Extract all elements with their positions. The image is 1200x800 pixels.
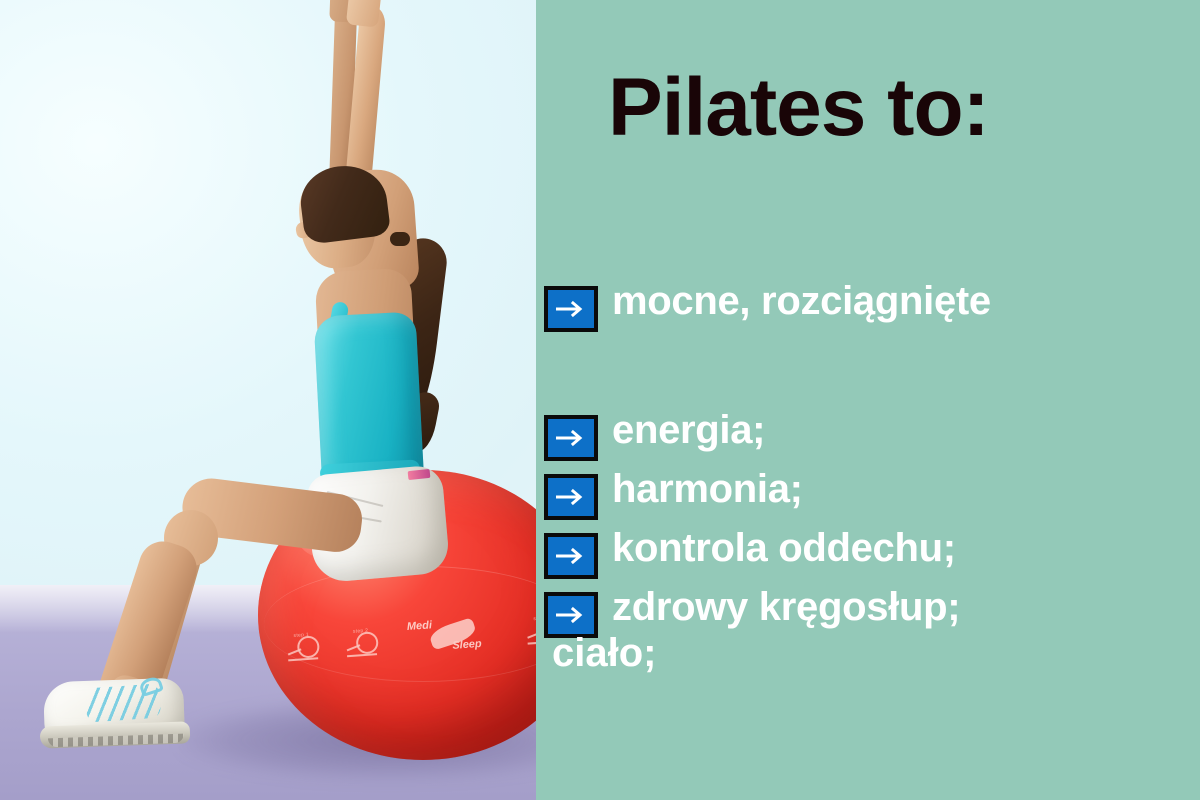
list-item-label: zdrowy kręgosłup; <box>612 583 960 632</box>
near-hand <box>346 0 382 28</box>
list-item: harmonia; <box>544 465 1200 520</box>
exercising-woman-figure <box>0 0 536 800</box>
list-item-label: harmonia; <box>612 465 803 514</box>
arrow-right-icon <box>544 286 598 332</box>
list-item: mocne, rozciągnięte <box>544 277 1200 332</box>
arrow-right-icon <box>544 415 598 461</box>
benefits-list: mocne, rozciągnięte ciało; energia; harm… <box>544 277 1200 642</box>
list-item: energia; <box>544 406 1200 461</box>
hair-tie <box>390 232 410 246</box>
list-item: kontrola oddechu; <box>544 524 1200 579</box>
arrow-right-icon <box>544 474 598 520</box>
pilates-poster: step 1 step 2 Medi Sleep step 3 <box>0 0 1200 800</box>
list-item-label: energia; <box>612 406 765 455</box>
list-item-label: kontrola oddechu; <box>612 524 956 573</box>
list-item-label: mocne, rozciągnięte <box>612 277 1196 326</box>
text-pane: Pilates to: mocne, rozciągnięte ciało; e… <box>536 0 1200 800</box>
arrow-right-icon <box>544 533 598 579</box>
photo-pane: step 1 step 2 Medi Sleep step 3 <box>0 0 536 800</box>
page-title: Pilates to: <box>608 66 1168 150</box>
list-item-label-continued: ciało; <box>552 629 656 678</box>
